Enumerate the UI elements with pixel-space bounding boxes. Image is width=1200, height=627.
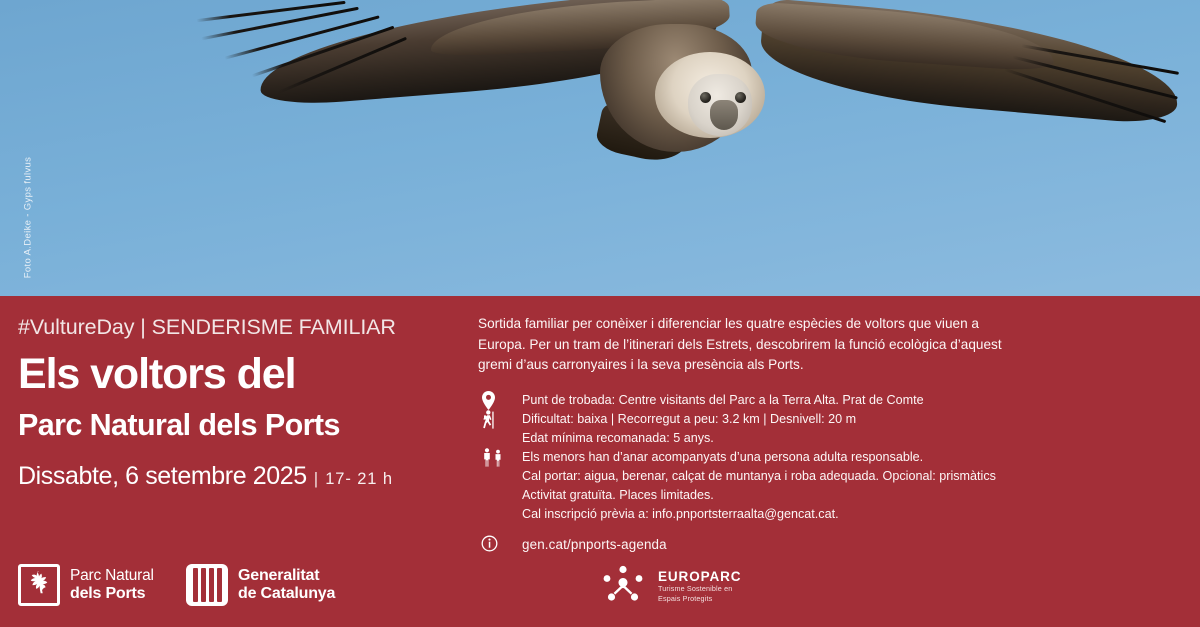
europarc-tagline-line2: Espais Protegits — [658, 594, 741, 603]
vulture-eye — [700, 92, 711, 103]
vulture-eye — [735, 92, 746, 103]
event-time: 17- 21 h — [325, 470, 393, 489]
senyera-stripe — [209, 568, 214, 602]
senyera-stripe — [217, 568, 222, 602]
detail-row-registration: Cal inscripció prèvia a: info.pnportster… — [478, 505, 1018, 524]
detail-text: Edat mínima recomanada: 5 anys. — [522, 429, 714, 448]
logo-text-generalitat: Generalitat de Catalunya — [238, 567, 335, 603]
map-pin-icon — [478, 391, 522, 410]
primary-feather — [196, 1, 345, 22]
logo-line2: dels Ports — [70, 585, 154, 603]
detail-text: Cal inscripció prèvia a: info.pnportster… — [522, 505, 839, 524]
detail-text: Dificultat: baixa | Recorregut a peu: 3.… — [522, 410, 856, 429]
event-kicker: #VultureDay | SENDERISME FAMILIAR — [18, 316, 478, 340]
logo-text-parc-natural: Parc Natural dels Ports — [70, 567, 154, 603]
hero-photo: Foto A.Deike - Gyps fulvus — [0, 0, 1200, 297]
hiker-icon — [478, 410, 522, 429]
detail-icon-spacer — [478, 467, 522, 486]
vulture-beak — [710, 100, 738, 130]
detail-row-minors: Els menors han d’anar acompanyats d’una … — [478, 448, 1018, 467]
detail-text: Cal portar: aigua, berenar, calçat de mu… — [522, 467, 996, 486]
logo-parc-natural-dels-ports: Parc Natural dels Ports — [18, 564, 154, 606]
footer-logos: Parc Natural dels Ports Generalitat de C… — [0, 556, 1020, 627]
family-icon — [478, 448, 522, 467]
senyera-stripe — [193, 568, 198, 602]
detail-icon-spacer — [478, 486, 522, 505]
vulture-illustration — [0, 0, 1200, 297]
detail-row-more-info[interactable]: gen.cat/pnports-agenda — [478, 535, 1018, 554]
detail-row-meeting-point: Punt de trobada: Centre visitants del Pa… — [478, 391, 1018, 410]
event-details-block: Sortida familiar per conèixer i diferenc… — [478, 314, 1018, 554]
event-title-line2: Parc Natural dels Ports — [18, 409, 478, 441]
detail-icon-spacer — [478, 505, 522, 524]
logo-line2: de Catalunya — [238, 585, 335, 603]
event-detail-list: Punt de trobada: Centre visitants del Pa… — [478, 391, 1018, 554]
europarc-name: EUROPARC — [658, 569, 741, 584]
detail-row-min-age: Edat mínima recomanada: 5 anys. — [478, 429, 1018, 448]
detail-text: Els menors han d’anar acompanyats d’una … — [522, 448, 923, 467]
event-date: Dissabte, 6 setembre 2025 — [18, 462, 307, 491]
senyera-stripe — [201, 568, 206, 602]
detail-text: Activitat gratuïta. Places limitades. — [522, 486, 714, 505]
oak-leaf-glyph — [25, 570, 53, 600]
event-description: Sortida familiar per conèixer i diferenc… — [478, 314, 1018, 376]
more-info-link[interactable]: gen.cat/pnports-agenda — [522, 535, 667, 554]
logo-generalitat-de-catalunya: Generalitat de Catalunya — [186, 564, 335, 606]
info-circle-icon — [478, 535, 522, 554]
detail-icon-spacer — [478, 429, 522, 448]
detail-row-price: Activitat gratuïta. Places limitades. — [478, 486, 1018, 505]
detail-row-difficulty: Dificultat: baixa | Recorregut a peu: 3.… — [478, 410, 1018, 429]
photo-credit: Foto A.Deike - Gyps fulvus — [23, 138, 34, 298]
poster-root: Foto A.Deike - Gyps fulvus #VultureDay |… — [0, 0, 1200, 627]
logo-europarc: EUROPARC Turisme Sostenible en Espais Pr… — [598, 564, 741, 608]
logo-line1: Parc Natural — [70, 567, 154, 585]
europarc-people-icon — [598, 564, 648, 608]
europarc-tagline-line1: Turisme Sostenible en — [658, 584, 741, 593]
oak-leaf-icon — [18, 564, 60, 606]
logo-line1: Generalitat — [238, 567, 335, 585]
senyera-icon — [186, 564, 228, 606]
dateline-separator: | — [314, 469, 318, 489]
event-dateline: Dissabte, 6 setembre 2025 | 17- 21 h — [18, 462, 478, 491]
detail-row-what-to-bring: Cal portar: aigua, berenar, calçat de mu… — [478, 467, 1018, 486]
event-headline-block: #VultureDay | SENDERISME FAMILIAR Els vo… — [18, 316, 478, 491]
detail-text: Punt de trobada: Centre visitants del Pa… — [522, 391, 924, 410]
event-title-line1: Els voltors del — [18, 353, 478, 396]
europarc-text: EUROPARC Turisme Sostenible en Espais Pr… — [658, 569, 741, 602]
